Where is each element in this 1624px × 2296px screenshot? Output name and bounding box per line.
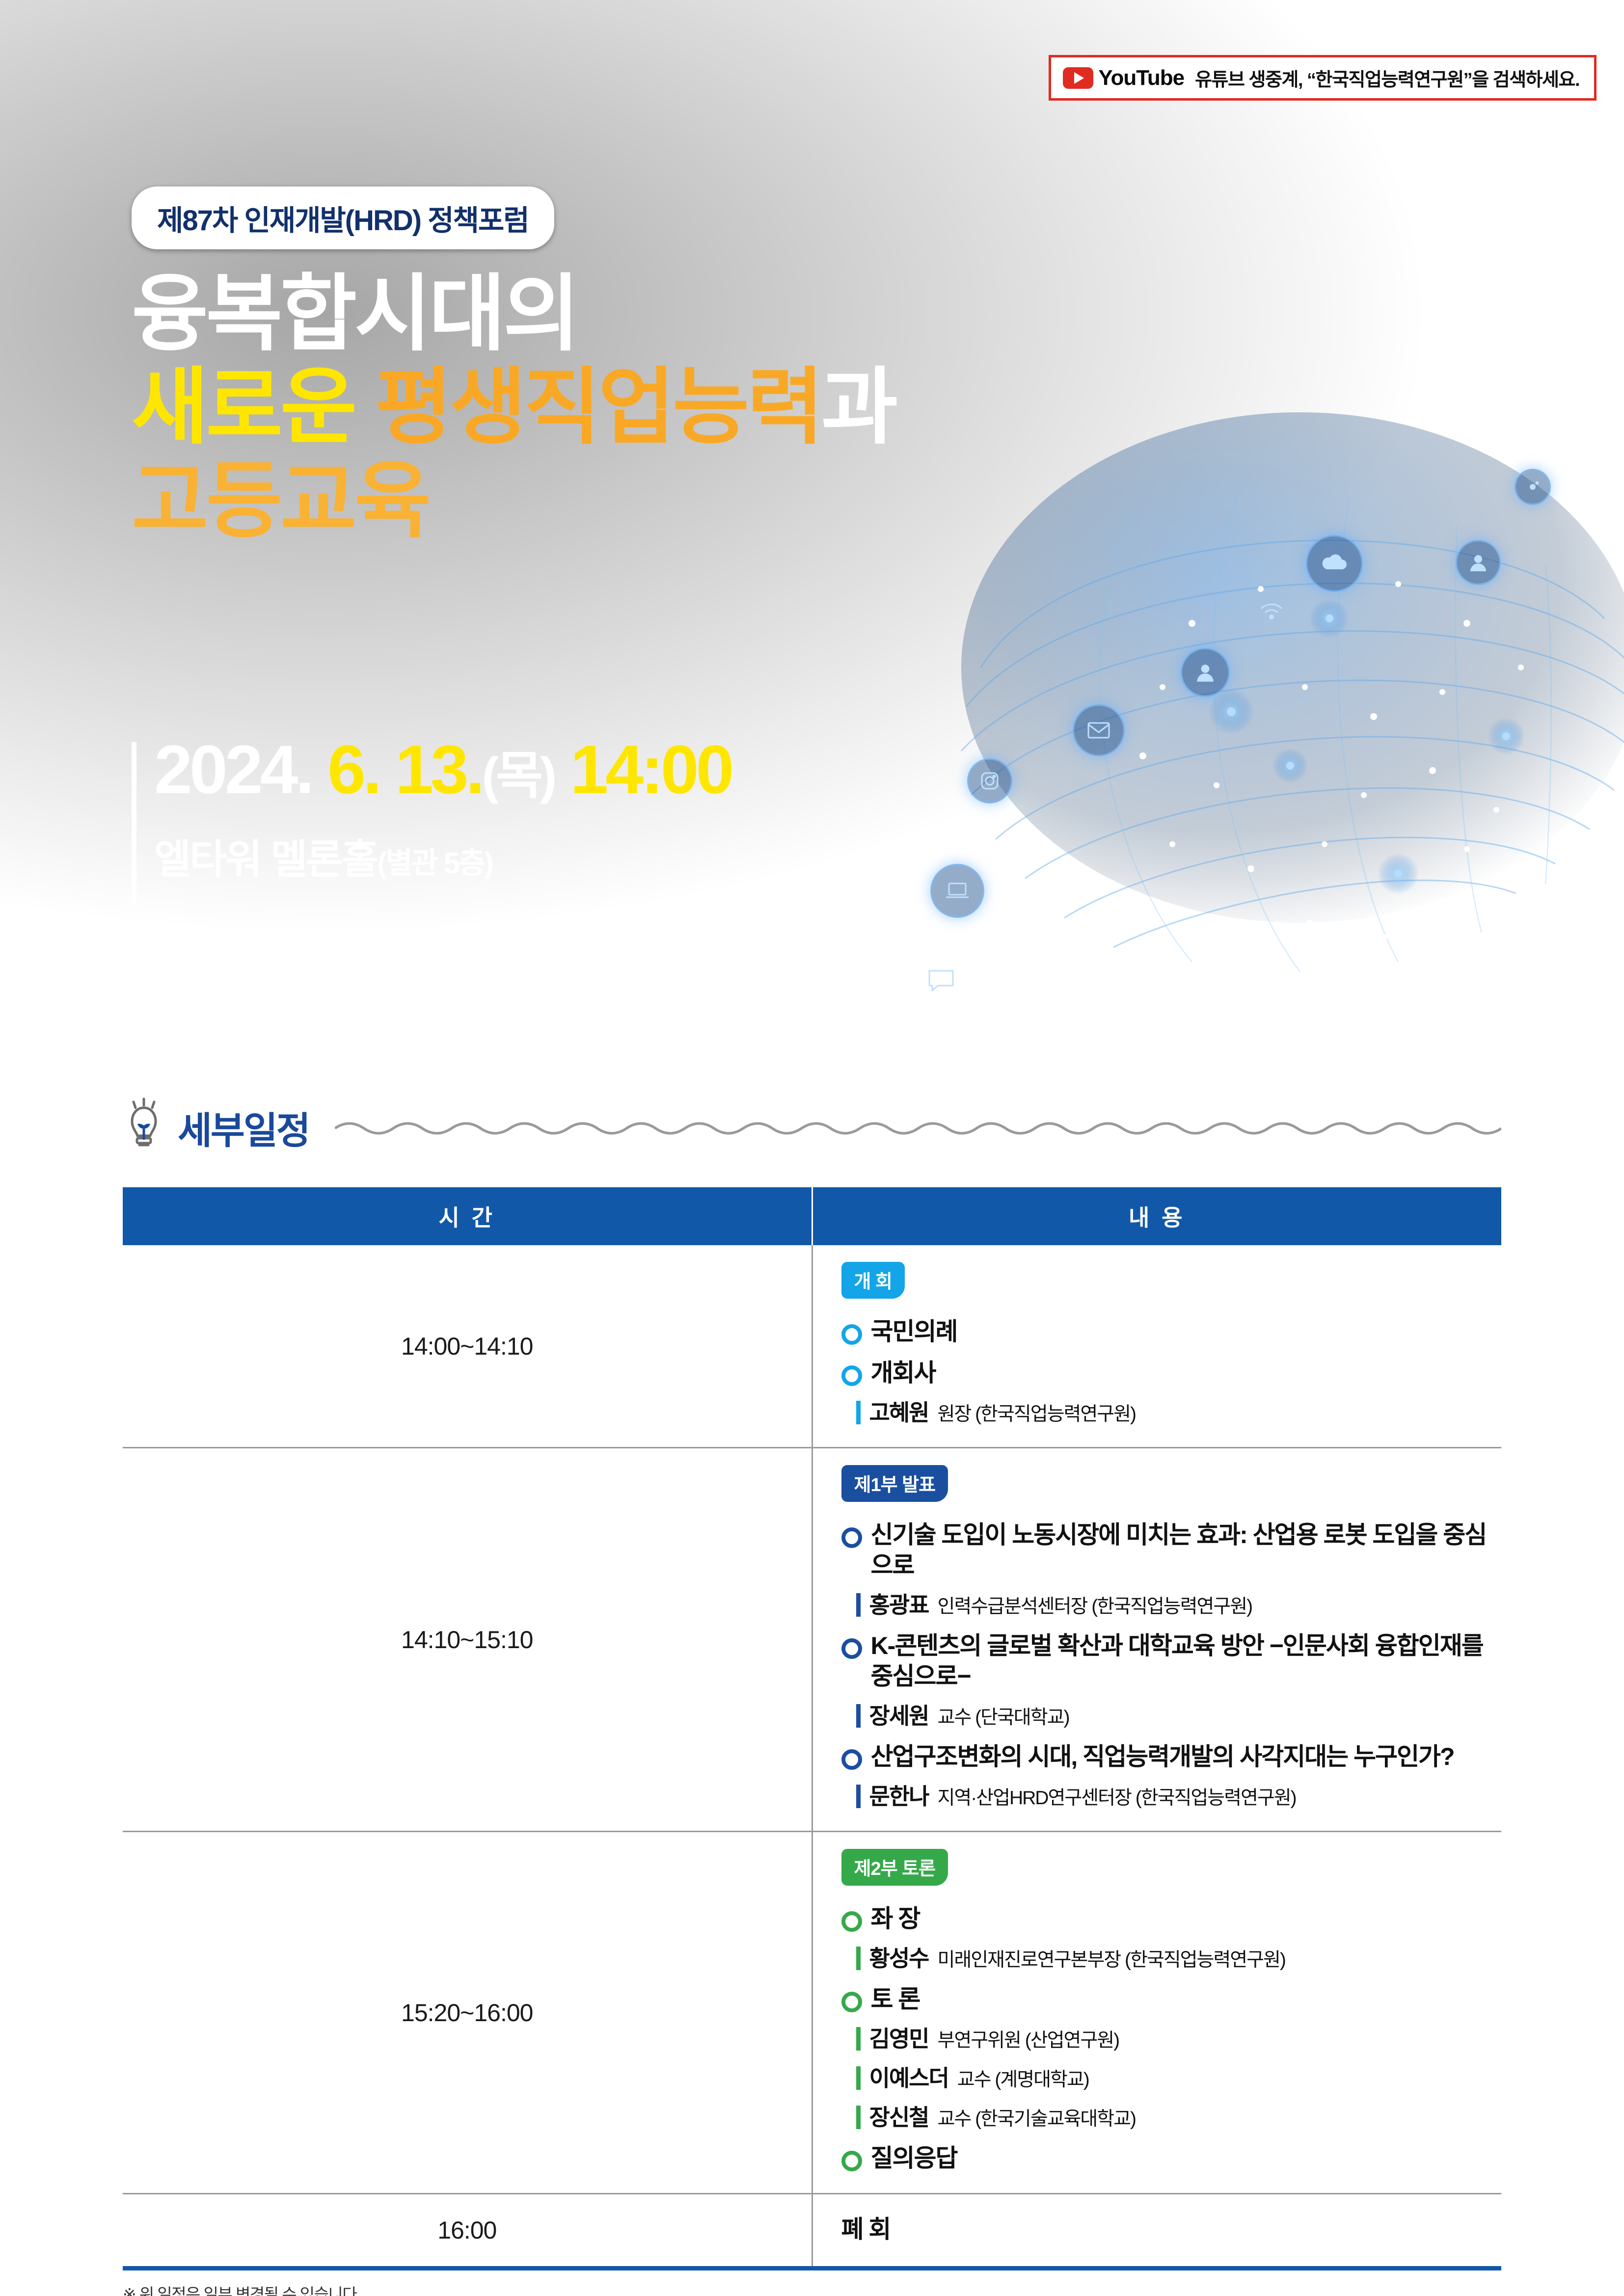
row-time: 14:10~15:10 bbox=[123, 1448, 812, 1832]
bullet-ring-icon bbox=[841, 1749, 862, 1770]
instagram-icon bbox=[967, 758, 1012, 803]
table-row: 15:20~16:00 제2부 토론 좌 장 황성수 미래인재진로연구본부장 (… bbox=[123, 1832, 1501, 2194]
speaker-name: 장신철 bbox=[869, 2100, 929, 2132]
headline-line-3: 고등교육 bbox=[132, 454, 895, 548]
agenda-item-title: 좌 장 bbox=[871, 1903, 920, 1934]
lightbulb-icon bbox=[123, 1096, 165, 1159]
speaker-name: 김영민 bbox=[869, 2021, 929, 2054]
speaker-role: 교수 (단국대학교) bbox=[937, 1702, 1069, 1730]
speaker-role: 부연구위원 (산업연구원) bbox=[937, 2025, 1119, 2053]
row-content: 개 회 국민의례 개회사 고혜원 원장 (한국직업능력연구원) bbox=[812, 1245, 1501, 1448]
agenda-item-title: 국민의례 bbox=[871, 1316, 957, 1347]
mail-icon bbox=[1073, 704, 1125, 756]
bullet-ring-icon bbox=[841, 1911, 862, 1932]
hero-section: YouTube 유튜브 생중계, “한국직업능력연구원”을 검색하세요. 제87… bbox=[0, 0, 1624, 1043]
speaker-name: 이예스더 bbox=[869, 2060, 948, 2093]
schedule-table: 시 간 내 용 14:00~14:10 개 회 국민의례 bbox=[123, 1187, 1501, 2270]
row-content: 제1부 발표 신기술 도입이 노동시장에 미치는 효과: 산업용 로봇 도입을 … bbox=[812, 1448, 1501, 1832]
headline-line-2-new: 새로운 bbox=[132, 361, 375, 454]
column-header-content: 내 용 bbox=[812, 1187, 1501, 1245]
schedule-header: 세부일정 bbox=[123, 1096, 1624, 1159]
speaker-line: 홍광표 인력수급분석센터장 (한국직업능력연구원) bbox=[856, 1587, 1502, 1620]
headline-line-2-skills: 평생직업능력 bbox=[375, 361, 821, 454]
schedule-section: 세부일정 시 간 내 용 14:00~14:10 개 회 bbox=[0, 1043, 1624, 2296]
youtube-logo: YouTube bbox=[1063, 66, 1184, 90]
youtube-message: 유튜브 생중계, “한국직업능력연구원”을 검색하세요. bbox=[1195, 64, 1579, 91]
speaker-line: 이예스더 교수 (계명대학교) bbox=[856, 2060, 1502, 2093]
agenda-item: 좌 장 bbox=[841, 1903, 1502, 1934]
session-tag: 제2부 토론 bbox=[841, 1849, 948, 1886]
speaker-bar-icon bbox=[856, 1785, 861, 1808]
row-time: 14:00~14:10 bbox=[123, 1245, 812, 1448]
table-row: 16:00 폐 회 bbox=[123, 2194, 1501, 2269]
cloud-icon bbox=[1306, 535, 1363, 592]
speaker-name: 홍광표 bbox=[869, 1587, 929, 1620]
bullet-ring-icon bbox=[841, 1324, 862, 1345]
row-content: 폐 회 bbox=[812, 2194, 1501, 2269]
speaker-bar-icon bbox=[856, 2066, 861, 2090]
speaker-bar-icon bbox=[856, 1401, 861, 1424]
schedule-title: 세부일정 bbox=[178, 1100, 309, 1154]
speaker-bar-icon bbox=[856, 2106, 861, 2129]
speaker-role: 교수 (계명대학교) bbox=[957, 2064, 1089, 2092]
speaker-bar-icon bbox=[856, 1593, 861, 1617]
user-alt-icon bbox=[1181, 648, 1230, 697]
forum-number-badge: 제87차 인재개발(HRD) 정책포럼 bbox=[132, 187, 554, 249]
event-venue: 엘타워 멜론홀 bbox=[154, 837, 377, 882]
settings-gear-icon bbox=[1515, 469, 1551, 505]
youtube-play-icon bbox=[1063, 67, 1093, 89]
bullet-ring-icon bbox=[841, 1638, 862, 1659]
agenda-item: 질의응답 bbox=[841, 2143, 1502, 2173]
session-tag: 개 회 bbox=[841, 1262, 905, 1299]
event-month-day: 6. 13. bbox=[327, 731, 482, 808]
table-row: 14:00~14:10 개 회 국민의례 개회사 bbox=[123, 1245, 1501, 1448]
speaker-bar-icon bbox=[856, 1704, 861, 1728]
bullet-ring-icon bbox=[841, 1365, 862, 1386]
agenda-item-title: 신기술 도입이 노동시장에 미치는 효과: 산업용 로봇 도입을 중심으로 bbox=[871, 1520, 1502, 1580]
speaker-role: 미래인재진로연구본부장 (한국직업능력연구원) bbox=[937, 1945, 1285, 1972]
table-header-row: 시 간 내 용 bbox=[123, 1187, 1501, 1245]
headline-line-1: 융복합시대의 bbox=[132, 267, 895, 361]
agenda-item-title: K-콘텐츠의 글로벌 확산과 대학교육 방안 −인문사회 융합인재를 중심으로− bbox=[871, 1630, 1502, 1691]
agenda-item-title: 질의응답 bbox=[871, 2143, 957, 2173]
bullet-ring-icon bbox=[841, 2151, 862, 2171]
event-datetime-block: 2024. 6. 13.(목) 14:00 엘타워 멜론홀(별관 5층) bbox=[132, 735, 731, 885]
wifi-icon bbox=[1257, 596, 1286, 626]
bullet-ring-icon bbox=[841, 1527, 862, 1548]
column-header-time: 시 간 bbox=[123, 1187, 812, 1245]
youtube-brand-label: YouTube bbox=[1098, 66, 1184, 90]
youtube-live-banner[interactable]: YouTube 유튜브 생중계, “한국직업능력연구원”을 검색하세요. bbox=[1049, 55, 1597, 101]
agenda-item-title: 개회사 bbox=[871, 1358, 936, 1388]
row-time: 15:20~16:00 bbox=[123, 1832, 812, 2194]
schedule-note: ※ 위 일정은 일부 변경될 수 있습니다. bbox=[123, 2281, 1624, 2296]
speaker-bar-icon bbox=[856, 1947, 861, 1970]
event-date-line: 2024. 6. 13.(목) 14:00 bbox=[154, 735, 731, 804]
event-venue-line: 엘타워 멜론홀(별관 5층) bbox=[154, 827, 731, 885]
event-venue-detail: (별관 5층) bbox=[377, 847, 492, 880]
bullet-ring-icon bbox=[841, 1992, 862, 2012]
event-year: 2024. bbox=[154, 731, 327, 808]
agenda-item: 산업구조변화의 시대, 직업능력개발의 사각지대는 누구인가? bbox=[841, 1741, 1502, 1772]
headline-line-2-and: 과 bbox=[821, 361, 895, 454]
table-row: 14:10~15:10 제1부 발표 신기술 도입이 노동시장에 미치는 효과:… bbox=[123, 1448, 1501, 1832]
agenda-item-title: 산업구조변화의 시대, 직업능력개발의 사각지대는 누구인가? bbox=[871, 1741, 1454, 1772]
speaker-line: 황성수 미래인재진로연구본부장 (한국직업능력연구원) bbox=[856, 1941, 1502, 1973]
agenda-item: 개회사 bbox=[841, 1358, 1502, 1388]
agenda-item: 국민의례 bbox=[841, 1316, 1502, 1347]
row-content: 제2부 토론 좌 장 황성수 미래인재진로연구본부장 (한국직업능력연구원) bbox=[812, 1832, 1501, 2194]
speaker-name: 문한나 bbox=[869, 1779, 929, 1811]
agenda-item-title: 폐 회 bbox=[841, 2216, 891, 2243]
speaker-line: 문한나 지역·산업HRD연구센터장 (한국직업능력연구원) bbox=[856, 1779, 1502, 1811]
speaker-role: 원장 (한국직업능력연구원) bbox=[937, 1399, 1136, 1426]
headline-line-2: 새로운 평생직업능력과 bbox=[132, 361, 895, 454]
session-tag: 제1부 발표 bbox=[841, 1465, 948, 1502]
laptop-icon bbox=[930, 864, 984, 918]
agenda-item-title: 토 론 bbox=[871, 1984, 920, 2014]
user-icon bbox=[1456, 540, 1501, 585]
poster-root: YouTube 유튜브 생중계, “한국직업능력연구원”을 검색하세요. 제87… bbox=[0, 0, 1624, 2296]
speaker-bar-icon bbox=[856, 2027, 861, 2051]
speaker-name: 황성수 bbox=[869, 1941, 929, 1973]
event-day-of-week: (목) bbox=[482, 748, 554, 804]
agenda-item: 신기술 도입이 노동시장에 미치는 효과: 산업용 로봇 도입을 중심으로 bbox=[841, 1520, 1502, 1580]
event-time: 14:00 bbox=[570, 731, 731, 808]
speaker-line: 고혜원 원장 (한국직업능력연구원) bbox=[856, 1395, 1502, 1427]
speaker-role: 인력수급분석센터장 (한국직업능력연구원) bbox=[937, 1591, 1252, 1619]
speaker-line: 장세원 교수 (단국대학교) bbox=[856, 1698, 1502, 1731]
speaker-role: 교수 (한국기술교육대학교) bbox=[937, 2104, 1136, 2131]
agenda-item: 토 론 bbox=[841, 1984, 1502, 2014]
speaker-line: 장신철 교수 (한국기술교육대학교) bbox=[856, 2100, 1502, 2132]
hero-headline: 융복합시대의 새로운 평생직업능력과 고등교육 bbox=[132, 267, 895, 548]
chat-bubble-icon bbox=[920, 960, 962, 1001]
wavy-divider bbox=[335, 1118, 1501, 1137]
speaker-name: 고혜원 bbox=[869, 1395, 929, 1427]
speaker-line: 김영민 부연구위원 (산업연구원) bbox=[856, 2021, 1502, 2054]
agenda-item: K-콘텐츠의 글로벌 확산과 대학교육 방안 −인문사회 융합인재를 중심으로− bbox=[841, 1630, 1502, 1691]
row-time: 16:00 bbox=[123, 2194, 812, 2269]
speaker-name: 장세원 bbox=[869, 1698, 929, 1731]
speaker-role: 지역·산업HRD연구센터장 (한국직업능력연구원) bbox=[937, 1783, 1296, 1810]
